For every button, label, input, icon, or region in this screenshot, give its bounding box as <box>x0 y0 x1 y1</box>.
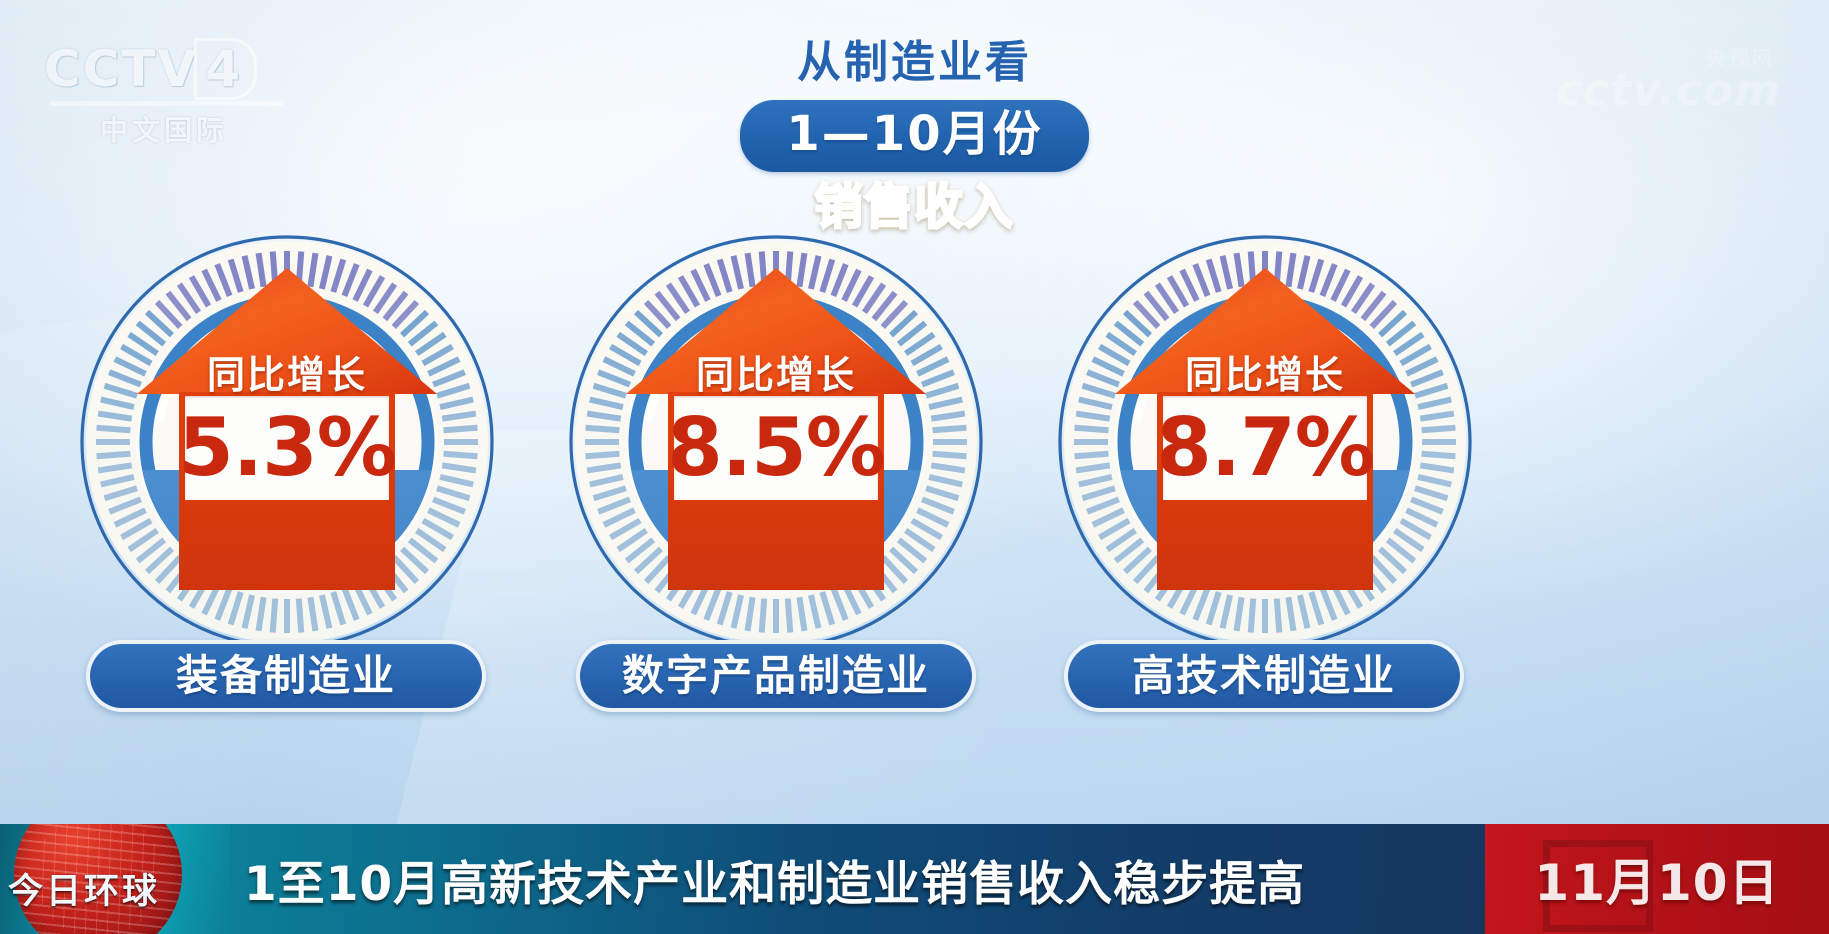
category-pill-1: 数字产品制造业 <box>576 640 976 712</box>
growth-label-1: 同比增长 <box>626 344 926 399</box>
category-label-0: 装备制造业 <box>176 653 396 699</box>
up-arrow-icon-2: 同比增长 8.7% <box>1115 268 1415 598</box>
category-pill-2: 高技术制造业 <box>1064 640 1464 712</box>
up-arrow-icon-1: 同比增长 8.5% <box>626 268 926 598</box>
gauge-card-0: 同比增长 5.3% <box>62 232 512 652</box>
up-arrow-icon-0: 同比增长 5.3% <box>137 268 437 598</box>
growth-label-0: 同比增长 <box>137 344 437 399</box>
category-pill-0: 装备制造业 <box>86 640 486 712</box>
date-cell: 11月10日 <box>1485 824 1829 934</box>
broadcast-frame: CCTV4 中文国际 央视网 cctv.com 从制造业看 1—10月份 销售收… <box>0 0 1829 934</box>
news-ticker-bar: 今日环球 1至10月高新技术产业和制造业销售收入稳步提高 11月10日 <box>0 824 1829 934</box>
program-logo-cell: 今日环球 <box>0 824 230 934</box>
growth-value-1: 8.5% <box>667 407 885 489</box>
growth-value-box-0: 5.3% <box>185 396 389 500</box>
gauge-card-1: 同比增长 8.5% <box>551 232 1001 652</box>
headline-cell: 1至10月高新技术产业和制造业销售收入稳步提高 <box>230 824 1485 934</box>
program-title: 今日环球 <box>8 863 224 914</box>
period-label: 1—10月份 <box>786 106 1042 162</box>
headline-context: 从制造业看 <box>0 38 1829 88</box>
period-pill: 1—10月份 <box>740 100 1088 172</box>
ticker-headline: 1至10月高新技术产业和制造业销售收入稳步提高 <box>230 845 1305 914</box>
gauge-card-2: 同比增长 8.7% <box>1040 232 1490 652</box>
metric-label: 销售收入 <box>0 178 1829 236</box>
category-label-2: 高技术制造业 <box>1132 653 1396 699</box>
growth-value-2: 8.7% <box>1156 407 1374 489</box>
category-pill-row: 装备制造业 数字产品制造业 高技术制造业 <box>0 640 1829 720</box>
growth-label-2: 同比增长 <box>1115 344 1415 399</box>
headline-block: 从制造业看 1—10月份 销售收入 <box>0 38 1829 236</box>
growth-value-box-1: 8.5% <box>674 396 878 500</box>
category-label-1: 数字产品制造业 <box>622 653 930 699</box>
ticker-date: 11月10日 <box>1534 843 1779 915</box>
growth-value-0: 5.3% <box>178 407 396 489</box>
growth-value-box-2: 8.7% <box>1163 396 1367 500</box>
gauge-row: 同比增长 5.3% 同比增长 8.5% 同比增长 <box>0 232 1829 652</box>
